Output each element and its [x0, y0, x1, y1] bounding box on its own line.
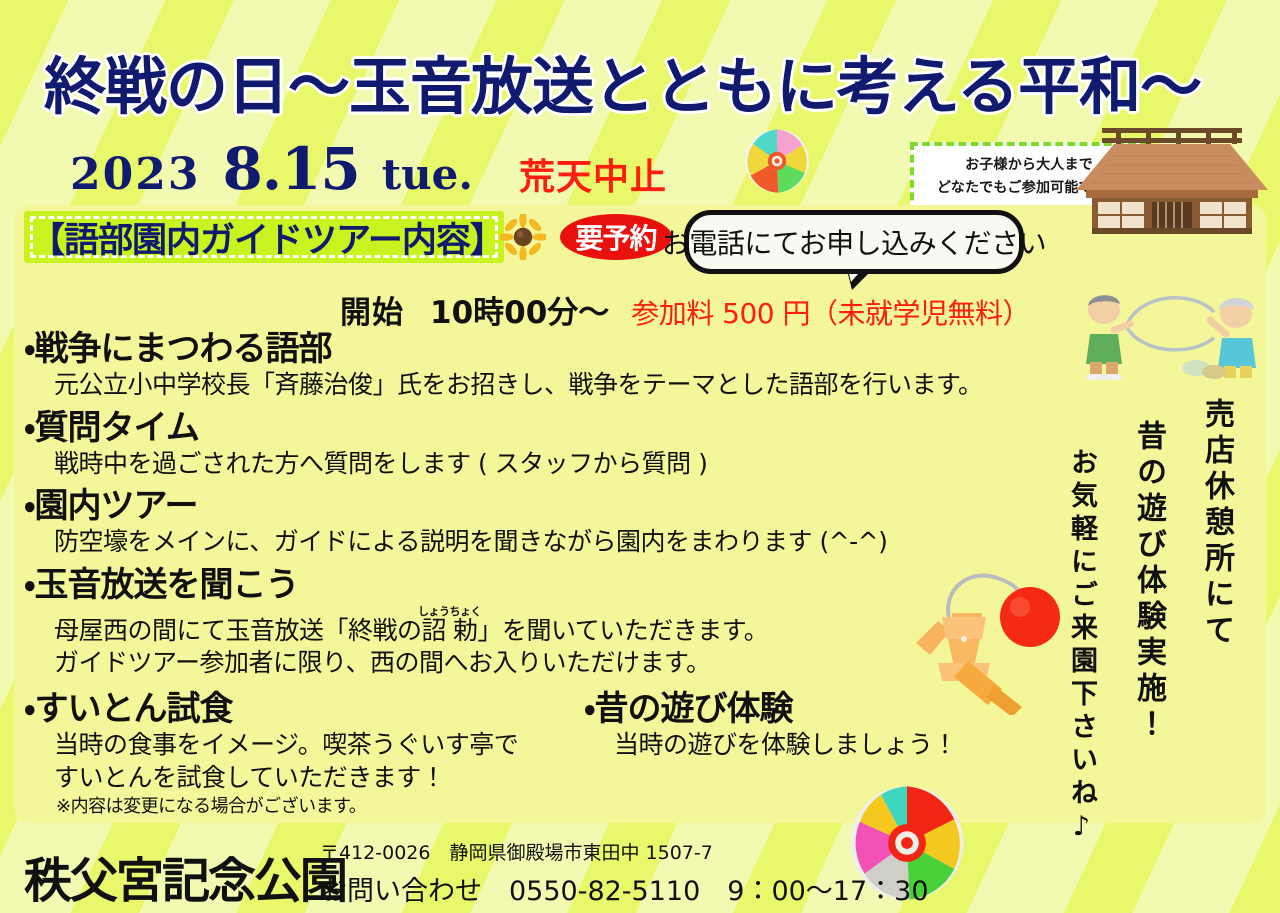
program-item-line: 防空壕をメインに、ガイドによる説明を聞きながら園内をまわります (^-^): [54, 526, 1064, 559]
program-item-head: ・戦争にまつわる語部: [24, 330, 1064, 369]
vertical-text-welcome: お気軽にご来園下さいね♪: [1062, 448, 1101, 848]
start-time-row: 開始 10時00分〜 参加料 500 円（未就学児無料）: [340, 287, 1030, 332]
program-list: ・戦争にまつわる語部 元公立小中学校長「斉藤治俊」氏をお招きし、戦争をテーマとし…: [24, 330, 1064, 687]
participation-fee: 参加料 500 円（未就学児無料）: [631, 292, 1030, 332]
program-item: ・戦争にまつわる語部 元公立小中学校長「斉藤治俊」氏をお招きし、戦争をテーマとし…: [24, 330, 1064, 402]
program-item-gyokuon: ・玉音放送を聞こう 母屋西の間にて玉音放送「終戦の詔勅しょうちょく」を聞いていた…: [24, 566, 1064, 680]
program-item-head: ・すいとん試食: [24, 690, 584, 729]
date-dayofweek: tue.: [382, 150, 473, 199]
change-notice: ※内容は変更になる場合がございます。: [56, 792, 366, 818]
ruby-base: 詔勅: [418, 616, 481, 645]
program-item-line: 戦時中を過ごされた方へ質問をします ( スタッフから質問 ): [54, 448, 1064, 481]
program-item-suiton: ・すいとん試食 当時の食事をイメージ。喫茶うぐいす亭で すいとんを試食していただ…: [24, 690, 584, 794]
reservation-required-badge: 要予約: [560, 214, 672, 260]
ruby-group: 詔勅しょうちょく: [422, 616, 478, 645]
program-item-line: すいとんを試食していただきます！: [54, 762, 584, 795]
poster-root: 終戦の日〜玉音放送とともに考える平和〜 2023 8.15 tue. 荒天中止 …: [0, 0, 1280, 913]
program-item-line-ruby: 母屋西の間にて玉音放送「終戦の詔勅しょうちょく」を聞いていただきます。: [54, 605, 1064, 648]
program-item-head: ・玉音放送を聞こう: [24, 566, 1064, 605]
date-day: 8.15: [222, 135, 359, 203]
sunflower-icon: [500, 214, 546, 260]
start-time-value: 10時00分〜: [430, 287, 609, 332]
program-item-line: ガイドツアー参加者に限り、西の間へお入りいただけます。: [54, 647, 1064, 680]
program-item-line: 元公立小中学校長「斉藤治俊」氏をお招きし、戦争をテーマとした語部を行います。: [54, 369, 1064, 402]
program-item-head: ・園内ツアー: [24, 487, 1064, 526]
ruby-reading: しょうちょく: [418, 605, 481, 618]
program-item-line: 当時の遊びを体験しましょう！: [614, 729, 1024, 762]
vertical-text-oldgames: 昔の遊び体験実施！: [1126, 420, 1170, 744]
thatched-house-icon: [1072, 128, 1272, 238]
page-title: 終戦の日〜玉音放送とともに考える平和〜: [44, 36, 1164, 126]
program-item-head: ・昔の遊び体験: [584, 690, 1024, 729]
start-label: 開始: [340, 287, 404, 332]
program-item-oldgames: ・昔の遊び体験 当時の遊びを体験しましょう！: [584, 690, 1024, 794]
date-year: 2023: [70, 149, 200, 200]
ruby-line-before: 母屋西の間にて玉音放送「終戦の: [54, 616, 422, 645]
park-name: 秩父宮記念公園: [24, 841, 346, 911]
vertical-text-shop: 売店休憩所にて: [1194, 398, 1238, 650]
jump-rope-figures-icon: [1068, 280, 1274, 380]
program-item-head: ・質問タイム: [24, 409, 1064, 448]
program-item: ・園内ツアー 防空壕をメインに、ガイドによる説明を聞きながら園内をまわります (…: [24, 487, 1064, 559]
ruby-line-after: 」を聞いていただきます。: [478, 616, 769, 645]
phone-application-bubble: お電話にてお申し込みください: [684, 210, 1024, 274]
beach-ball-icon: [744, 128, 810, 194]
bad-weather-cancel-note: 荒天中止: [519, 148, 667, 200]
event-date-bar: 2023 8.15 tue. 荒天中止: [70, 135, 667, 203]
park-address: 〒412-0026 静岡県御殿場市東田中 1507-7: [320, 838, 713, 865]
program-item-line: 当時の食事をイメージ。喫茶うぐいす亭で: [54, 729, 584, 762]
program-item: ・質問タイム 戦時中を過ごされた方へ質問をします ( スタッフから質問 ): [24, 409, 1064, 481]
program-two-column-section: ・すいとん試食 当時の食事をイメージ。喫茶うぐいす亭で すいとんを試食していただ…: [24, 690, 1044, 794]
park-contact: お問い合わせ 0550-82-5110 9：00〜17：30: [320, 869, 929, 908]
section-heading-label: 【語部園内ガイドツアー内容】: [30, 213, 510, 261]
